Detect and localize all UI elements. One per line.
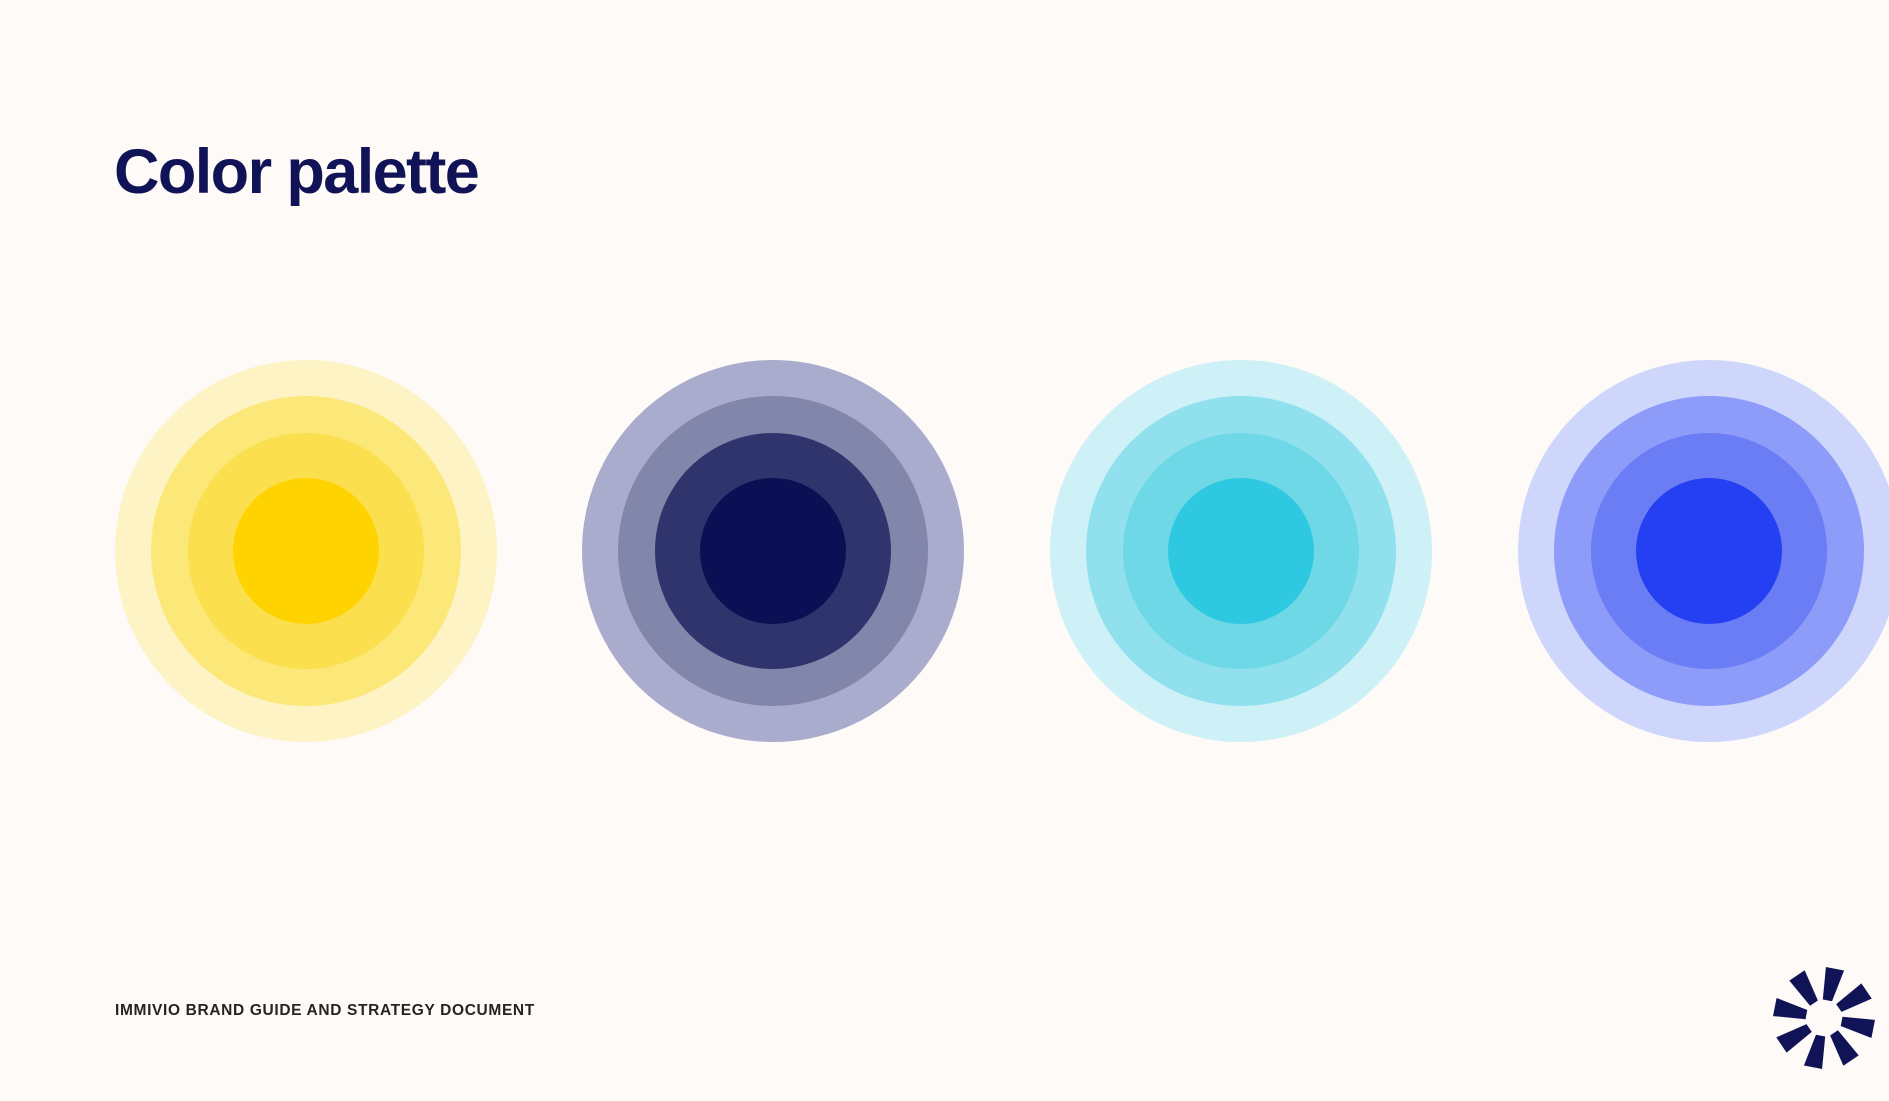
- color-swatch-group-blue[interactable]: [1518, 360, 1889, 742]
- slide-canvas: Color palette IMMIVIO BRAND GUIDE AND ST…: [0, 0, 1889, 1101]
- color-swatch-group-navy[interactable]: [582, 360, 964, 742]
- footer-label: IMMIVIO BRAND GUIDE AND STRATEGY DOCUMEN…: [115, 1002, 535, 1020]
- color-swatch-group-yellow[interactable]: [115, 360, 497, 742]
- color-palette-row: [0, 0, 1889, 1101]
- color-swatch-navy-400[interactable]: [700, 478, 846, 624]
- color-swatch-cyan-400[interactable]: [1168, 478, 1314, 624]
- color-swatch-group-cyan[interactable]: [1050, 360, 1432, 742]
- color-swatch-blue-400[interactable]: [1636, 478, 1782, 624]
- color-swatch-yellow-400[interactable]: [233, 478, 379, 624]
- immivio-asterisk-logo-icon: [1768, 962, 1880, 1074]
